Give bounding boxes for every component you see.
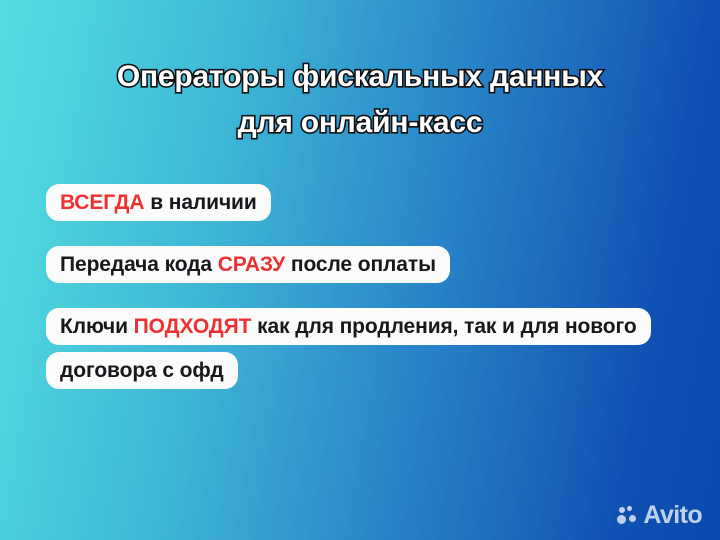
badge-text: ВСЕГДА в наличии: [46, 184, 271, 221]
avito-brand-label: Avito: [643, 503, 702, 528]
badge-pre: Ключи: [60, 315, 134, 338]
badge-highlight: ПОДХОДЯТ: [134, 315, 252, 338]
badge-rest: после оплаты: [285, 253, 436, 276]
badge-highlight: СРАЗУ: [218, 253, 285, 276]
badge-text: Передача кода СРАЗУ после оплаты: [46, 246, 450, 283]
avito-dots-icon: [617, 505, 638, 526]
title-line-2: для онлайн-касс: [30, 100, 690, 146]
feature-badge-availability: ВСЕГДА в наличии: [46, 181, 666, 224]
feature-badge-list: ВСЕГДА в наличии Передача кода СРАЗУ пос…: [46, 181, 666, 412]
poster-canvas: Операторы фискальных данных для онлайн-к…: [0, 0, 720, 540]
badge-text: Ключи ПОДХОДЯТ как для продления, так и …: [46, 308, 651, 389]
feature-badge-keys: Ключи ПОДХОДЯТ как для продления, так и …: [46, 305, 666, 393]
avito-watermark: Avito: [617, 503, 702, 528]
title-line-1: Операторы фискальных данных: [30, 54, 690, 100]
page-title: Операторы фискальных данных для онлайн-к…: [0, 54, 720, 146]
feature-badge-delivery: Передача кода СРАЗУ после оплаты: [46, 243, 666, 286]
badge-pre: Передача кода: [60, 253, 218, 276]
badge-rest: в наличии: [144, 191, 256, 214]
badge-highlight: ВСЕГДА: [60, 191, 144, 214]
